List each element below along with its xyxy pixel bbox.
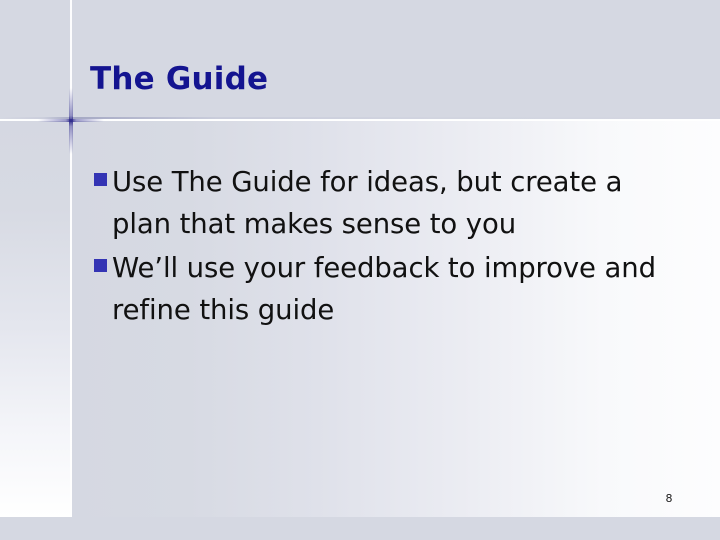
square-bullet-icon — [94, 259, 107, 272]
slide-canvas: The Guide Use The Guide for ideas, but c… — [0, 0, 720, 540]
horizontal-divider-rule — [0, 119, 720, 121]
vertical-divider-rule — [70, 0, 72, 517]
square-bullet-icon — [94, 173, 107, 186]
crosshair-horizontal-accent — [38, 119, 104, 122]
list-item-text: We’ll use your feedback to improve and r… — [112, 247, 664, 331]
slide-title: The Guide — [90, 62, 268, 96]
background-footer-band — [0, 517, 720, 540]
background-title-panel — [71, 0, 720, 120]
list-item-text: Use The Guide for ideas, but create a pl… — [112, 161, 664, 245]
background-left-band — [0, 120, 71, 517]
list-item: Use The Guide for ideas, but create a pl… — [94, 161, 664, 245]
background-top-left-panel — [0, 0, 71, 120]
bullet-list: Use The Guide for ideas, but create a pl… — [94, 161, 664, 333]
list-item: We’ll use your feedback to improve and r… — [94, 247, 664, 331]
page-number: 8 — [655, 492, 683, 505]
